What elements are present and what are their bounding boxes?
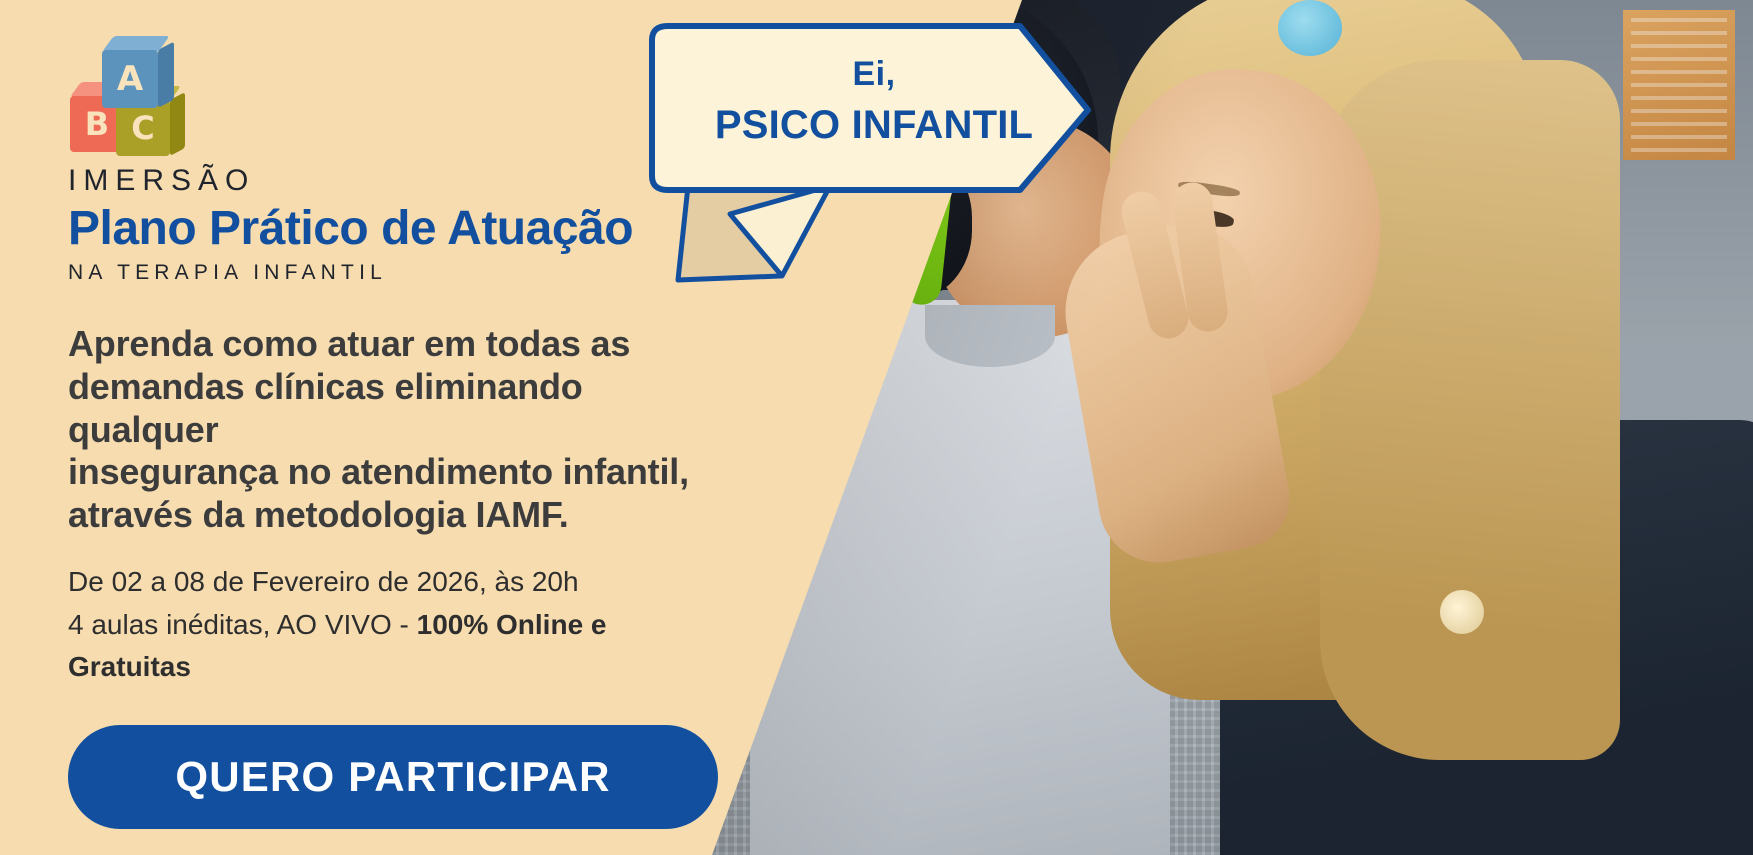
bubble-text-block: Ei, PSICO INFANTIL — [668, 54, 1080, 150]
block-a-letter: A — [102, 50, 158, 108]
event-date-line: De 02 a 08 de Fevereiro de 2026, às 20h — [68, 561, 700, 604]
page-title: Plano Prático de Atuação — [68, 204, 700, 255]
quero-participar-button[interactable]: QUERO PARTICIPAR — [68, 725, 718, 829]
block-c-letter: C — [116, 100, 170, 156]
event-classes-line: 4 aulas inéditas, AO VIVO - 100% Online … — [68, 604, 700, 689]
bubble-line-1: Ei, — [668, 54, 1080, 95]
lead-line-2: demandas clínicas eliminando qualquer — [68, 366, 700, 452]
lead-line-4: através da metodologia IAMF. — [68, 494, 700, 537]
lead-line-3: insegurança no atendimento infantil, — [68, 451, 700, 494]
abc-blocks-logo: B C A — [68, 34, 188, 142]
block-a-side — [158, 41, 174, 108]
content-column: B C A IMERSÃO Plano Prático de Atuação N… — [0, 0, 700, 855]
promo-banner: Ei, PSICO INFANTIL B C A IMERSÃO Plano — [0, 0, 1753, 855]
event-details: De 02 a 08 de Fevereiro de 2026, às 20h … — [68, 561, 700, 689]
bubble-line-2: PSICO INFANTIL — [668, 101, 1080, 150]
lead-paragraph: Aprenda como atuar em todas as demandas … — [68, 323, 700, 537]
kicker-label: IMERSÃO — [68, 164, 700, 198]
classes-prefix: 4 aulas inéditas, AO VIVO - — [68, 609, 417, 640]
lead-line-1: Aprenda como atuar em todas as — [68, 323, 700, 366]
subtitle-label: NA TERAPIA INFANTIL — [68, 261, 700, 285]
block-c-side — [170, 92, 185, 156]
